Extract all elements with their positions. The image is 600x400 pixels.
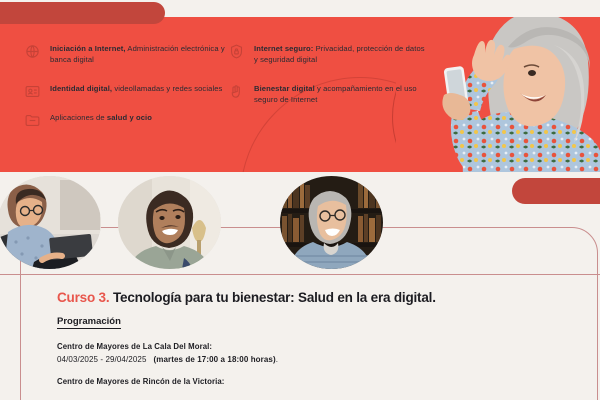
wellbeing-hand-icon xyxy=(228,83,245,100)
venue-tail: . xyxy=(276,355,278,364)
features-banner: Iniciación a Internet, Administración el… xyxy=(0,17,600,172)
course-details: Curso 3. Tecnología para tu bienestar: S… xyxy=(57,290,577,390)
course-title: Curso 3. Tecnología para tu bienestar: S… xyxy=(57,290,577,305)
photo-woman-library xyxy=(280,176,383,269)
vertical-divider xyxy=(20,274,21,400)
identity-card-icon xyxy=(24,83,41,100)
feature-item-text: Bienestar digital y acompañamiento en el… xyxy=(254,84,417,104)
feature-item-text: Identidad digital, videollamadas y redes… xyxy=(50,84,222,93)
internet-globe-icon xyxy=(24,43,41,60)
decorative-pill-top-left xyxy=(0,2,165,24)
apps-folder-icon xyxy=(24,112,41,129)
schedule-heading: Programación xyxy=(57,316,121,329)
feature-column-right: Internet seguro: Privacidad, protección … xyxy=(228,43,428,123)
photo-woman-laptop xyxy=(0,176,101,269)
feature-item-health-leisure-apps: Aplicaciones de salud y ocio xyxy=(24,112,229,123)
feature-item-digital-identity: Identidad digital, videollamadas y redes… xyxy=(24,83,229,94)
venue-dates: 04/03/2025 - 29/04/2025 (martes de 17:00… xyxy=(57,355,577,364)
feature-item-text: Internet seguro: Privacidad, protección … xyxy=(254,44,425,64)
feature-item-text: Aplicaciones de salud y ocio xyxy=(50,113,152,122)
venue-name: Centro de Mayores de Rincón de la Victor… xyxy=(57,377,577,386)
participant-photos xyxy=(0,176,600,272)
feature-item-internet-basics: Iniciación a Internet, Administración el… xyxy=(24,43,229,65)
course-number: Curso 3. xyxy=(57,290,109,305)
feature-item-digital-wellbeing: Bienestar digital y acompañamiento en el… xyxy=(228,83,428,105)
venue-name: Centro de Mayores de La Cala Del Moral: xyxy=(57,342,577,351)
feature-column-left: Iniciación a Internet, Administración el… xyxy=(24,43,229,141)
course-title-text: Tecnología para tu bienestar: Salud en l… xyxy=(113,290,436,305)
decorative-pill-right xyxy=(512,178,600,204)
venue-time-detail: (martes de 17:00 a 18:00 horas) xyxy=(153,355,275,364)
poster-canvas: Iniciación a Internet, Administración el… xyxy=(0,0,600,400)
venue-date-range: 04/03/2025 - 29/04/2025 xyxy=(57,355,147,364)
feature-item-text: Iniciación a Internet, Administración el… xyxy=(50,44,225,64)
feature-bullets: Iniciación a Internet, Administración el… xyxy=(0,17,470,172)
photo-man-smiling xyxy=(118,176,221,269)
horizontal-divider xyxy=(0,274,600,275)
feature-item-safe-internet: Internet seguro: Privacidad, protección … xyxy=(228,43,428,65)
shield-lock-icon xyxy=(228,43,245,60)
